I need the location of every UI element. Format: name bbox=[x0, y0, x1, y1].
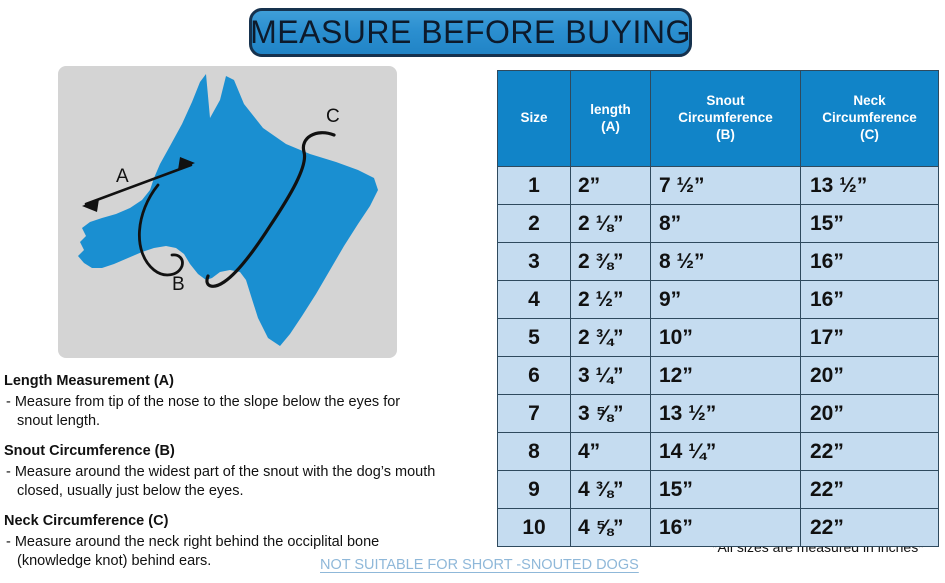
title-banner: MEASURE BEFORE BUYING bbox=[249, 8, 692, 57]
cell-size: 7 bbox=[498, 395, 571, 433]
cell-snout: 16” bbox=[651, 509, 801, 547]
instructions-block: Length Measurement (A) - Measure from ti… bbox=[4, 372, 484, 582]
column-header-neck-circumference: Neck Circumference (C) bbox=[801, 71, 939, 167]
column-header-size: Size bbox=[498, 71, 571, 167]
table-row: 7 3 ⅝” 13 ½” 20” bbox=[498, 395, 939, 433]
cell-size: 10 bbox=[498, 509, 571, 547]
column-header-neck-line3: (C) bbox=[803, 127, 936, 144]
column-header-length: length (A) bbox=[571, 71, 651, 167]
cell-length: 2 ⅛” bbox=[571, 205, 651, 243]
table-row: 8 4” 14 ¼” 22” bbox=[498, 433, 939, 471]
instruction-heading-length: Length Measurement (A) bbox=[4, 372, 484, 391]
cell-snout: 10” bbox=[651, 319, 801, 357]
cell-snout: 15” bbox=[651, 471, 801, 509]
cell-neck: 17” bbox=[801, 319, 939, 357]
table-row: 1 2” 7 ½” 13 ½” bbox=[498, 167, 939, 205]
page-title: MEASURE BEFORE BUYING bbox=[250, 14, 691, 51]
cell-length: 3 ⅝” bbox=[571, 395, 651, 433]
instruction-snout-line2: closed, usually just below the eyes. bbox=[6, 482, 484, 501]
cell-neck: 16” bbox=[801, 243, 939, 281]
cell-size: 4 bbox=[498, 281, 571, 319]
cell-snout: 8 ½” bbox=[651, 243, 801, 281]
cell-length: 4 ⅝” bbox=[571, 509, 651, 547]
size-chart-body: 1 2” 7 ½” 13 ½” 2 2 ⅛” 8” 15” 3 2 ⅜” 8 ½… bbox=[498, 167, 939, 547]
cell-snout: 14 ¼” bbox=[651, 433, 801, 471]
cell-length: 2 ¾” bbox=[571, 319, 651, 357]
cell-size: 3 bbox=[498, 243, 571, 281]
column-header-snout-line2: Circumference bbox=[653, 110, 798, 127]
table-row: 6 3 ¼” 12” 20” bbox=[498, 357, 939, 395]
cell-size: 6 bbox=[498, 357, 571, 395]
label-c: C bbox=[326, 106, 340, 127]
instruction-body-snout: - Measure around the widest part of the … bbox=[4, 463, 484, 502]
instruction-length-line1: - Measure from tip of the nose to the sl… bbox=[6, 394, 400, 410]
dog-illustration-panel: A B C bbox=[58, 66, 397, 358]
table-row: 5 2 ¾” 10” 17” bbox=[498, 319, 939, 357]
table-row: 10 4 ⅝” 16” 22” bbox=[498, 509, 939, 547]
cell-length: 4 ⅜” bbox=[571, 471, 651, 509]
cell-neck: 16” bbox=[801, 281, 939, 319]
cell-size: 2 bbox=[498, 205, 571, 243]
cell-snout: 8” bbox=[651, 205, 801, 243]
column-header-neck-line2: Circumference bbox=[803, 110, 936, 127]
cell-size: 9 bbox=[498, 471, 571, 509]
cell-length: 2 ½” bbox=[571, 281, 651, 319]
dog-head-diagram: A B C bbox=[58, 66, 397, 358]
table-row: 4 2 ½” 9” 16” bbox=[498, 281, 939, 319]
cell-neck: 13 ½” bbox=[801, 167, 939, 205]
cell-length: 3 ¼” bbox=[571, 357, 651, 395]
label-a: A bbox=[116, 166, 129, 187]
cell-length: 2 ⅜” bbox=[571, 243, 651, 281]
instruction-heading-neck: Neck Circumference (C) bbox=[4, 512, 484, 531]
cell-snout: 12” bbox=[651, 357, 801, 395]
instruction-body-length: - Measure from tip of the nose to the sl… bbox=[4, 393, 484, 432]
instruction-snout-line1: - Measure around the widest part of the … bbox=[6, 464, 435, 480]
instruction-heading-snout: Snout Circumference (B) bbox=[4, 442, 484, 461]
cell-neck: 22” bbox=[801, 471, 939, 509]
size-chart-table: Size length (A) Snout Circumference (B) … bbox=[497, 70, 939, 547]
column-header-snout-line1: Snout bbox=[653, 93, 798, 110]
cell-neck: 22” bbox=[801, 509, 939, 547]
column-header-snout-circumference: Snout Circumference (B) bbox=[651, 71, 801, 167]
cell-neck: 15” bbox=[801, 205, 939, 243]
column-header-length-line1: length bbox=[573, 102, 648, 119]
cell-neck: 22” bbox=[801, 433, 939, 471]
column-header-neck-line1: Neck bbox=[803, 93, 936, 110]
cell-length: 4” bbox=[571, 433, 651, 471]
column-header-size-line1: Size bbox=[500, 110, 568, 127]
table-row: 2 2 ⅛” 8” 15” bbox=[498, 205, 939, 243]
note-not-suitable: NOT SUITABLE FOR SHORT -SNOUTED DOGS bbox=[320, 557, 639, 573]
instruction-neck-line1: - Measure around the neck right behind t… bbox=[6, 534, 379, 550]
table-row: 3 2 ⅜” 8 ½” 16” bbox=[498, 243, 939, 281]
column-header-snout-line3: (B) bbox=[653, 127, 798, 144]
table-header-row: Size length (A) Snout Circumference (B) … bbox=[498, 71, 939, 167]
cell-size: 1 bbox=[498, 167, 571, 205]
cell-snout: 13 ½” bbox=[651, 395, 801, 433]
column-header-length-line2: (A) bbox=[573, 119, 648, 136]
cell-size: 8 bbox=[498, 433, 571, 471]
label-b: B bbox=[172, 274, 185, 295]
table-row: 9 4 ⅜” 15” 22” bbox=[498, 471, 939, 509]
cell-size: 5 bbox=[498, 319, 571, 357]
cell-neck: 20” bbox=[801, 357, 939, 395]
cell-snout: 7 ½” bbox=[651, 167, 801, 205]
cell-length: 2” bbox=[571, 167, 651, 205]
cell-snout: 9” bbox=[651, 281, 801, 319]
cell-neck: 20” bbox=[801, 395, 939, 433]
instruction-length-line2: snout length. bbox=[6, 412, 484, 431]
